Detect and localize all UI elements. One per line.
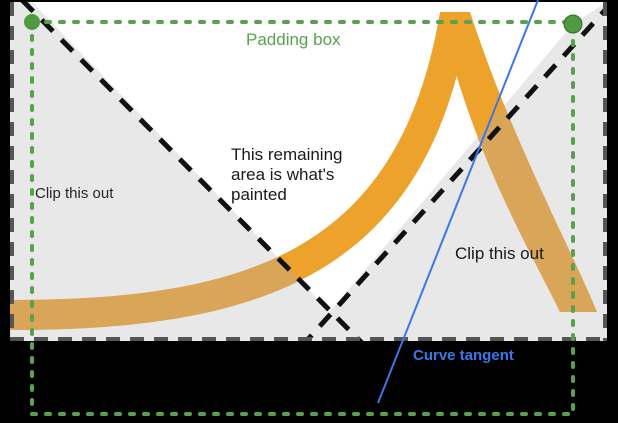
diagram-svg xyxy=(0,0,618,423)
curve-tangent-label: Curve tangent xyxy=(413,347,514,365)
top-right-corner-point-icon xyxy=(564,15,582,33)
padding-box-label: Padding box xyxy=(246,30,341,50)
top-left-corner-point-icon xyxy=(24,14,40,30)
painted-area-label: This remaining area is what's painted xyxy=(231,145,343,205)
diagram-canvas: Padding box Clip this out Clip this out … xyxy=(0,0,618,423)
clip-this-out-label-right: Clip this out xyxy=(455,244,544,264)
clip-this-out-label-left: Clip this out xyxy=(35,185,113,203)
